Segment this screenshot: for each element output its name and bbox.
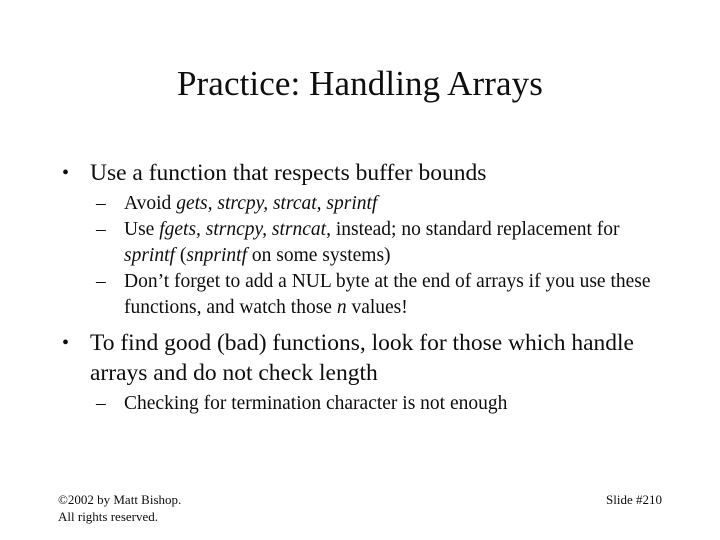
- code-identifier: n: [337, 297, 347, 318]
- dash-icon: –: [96, 191, 106, 217]
- bullet-level2-item: – Checking for termination character is …: [58, 391, 668, 417]
- bullet-level1-item: • Use a function that respects buffer bo…: [58, 158, 668, 188]
- text-run: values!: [347, 297, 408, 318]
- code-identifier: strncat: [272, 219, 326, 240]
- code-identifier: strncpy: [206, 219, 262, 240]
- text-run: (: [175, 245, 186, 266]
- bullet-dot-icon: •: [62, 328, 69, 358]
- dash-icon: –: [96, 391, 106, 417]
- bullet-level2-item: – Use fgets, strncpy, strncat, instead; …: [58, 217, 668, 269]
- text-run: ,: [196, 219, 206, 240]
- text-run: ,: [208, 193, 218, 214]
- bullet-level2-text: Don’t forget to add a NUL byte at the en…: [124, 271, 651, 318]
- copyright-line-2: All rights reserved.: [58, 509, 181, 526]
- text-run: ,: [262, 219, 272, 240]
- slide-footer: ©2002 by Matt Bishop. All rights reserve…: [58, 492, 662, 525]
- code-identifier: sprintf: [124, 245, 175, 266]
- text-run: Use: [124, 219, 159, 240]
- dash-icon: –: [96, 217, 106, 243]
- slide-number: Slide #210: [606, 492, 662, 509]
- bullet-level1-text: Use a function that respects buffer boun…: [90, 160, 486, 186]
- bullet-dot-icon: •: [62, 158, 69, 188]
- copyright-line-1: ©2002 by Matt Bishop.: [58, 492, 181, 509]
- slide-body: • Use a function that respects buffer bo…: [58, 158, 668, 417]
- text-run: ,: [263, 193, 273, 214]
- code-identifier: strcat: [273, 193, 317, 214]
- code-identifier: gets: [176, 193, 207, 214]
- bullet-level1-text: To find good (bad) functions, look for t…: [90, 330, 634, 386]
- code-identifier: fgets: [159, 219, 196, 240]
- text-run: on some systems): [247, 245, 391, 266]
- page-title: Practice: Handling Arrays: [0, 64, 720, 104]
- bullet-level2-item: – Don’t forget to add a NUL byte at the …: [58, 269, 668, 321]
- code-identifier: strcpy: [217, 193, 263, 214]
- dash-icon: –: [96, 269, 106, 295]
- slide-canvas: Practice: Handling Arrays • Use a functi…: [0, 0, 720, 540]
- bullet-level1-item: • To find good (bad) functions, look for…: [58, 328, 668, 388]
- bullet-level2-item: – Avoid gets, strcpy, strcat, sprintf: [58, 191, 668, 217]
- code-identifier: sprintf: [326, 193, 377, 214]
- bullet-level2-text: Use fgets, strncpy, strncat, instead; no…: [124, 219, 620, 266]
- bullet-level2-text: Checking for termination character is no…: [124, 393, 507, 414]
- copyright-notice: ©2002 by Matt Bishop. All rights reserve…: [58, 492, 181, 525]
- text-run: ,: [317, 193, 327, 214]
- code-identifier: snprintf: [186, 245, 247, 266]
- bullet-level2-text: Avoid gets, strcpy, strcat, sprintf: [124, 193, 377, 214]
- text-run: Avoid: [124, 193, 176, 214]
- text-run: , instead; no standard replacement for: [326, 219, 619, 240]
